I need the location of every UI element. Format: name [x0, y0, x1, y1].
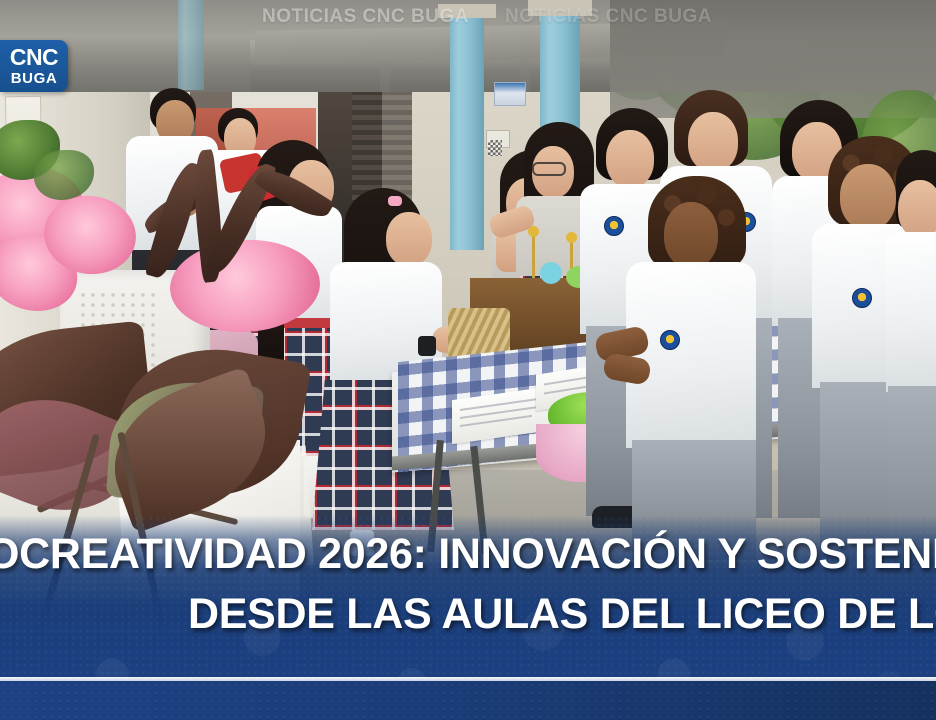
pillar: [178, 0, 204, 90]
watermark-text: NOTICIAS CNC BUGA: [262, 6, 469, 28]
cnc-buga-logo[interactable]: CNC BUGA: [0, 40, 68, 92]
wristwatch: [418, 336, 436, 356]
footer-texture: [0, 681, 936, 720]
wall-sign: [494, 82, 526, 106]
eyeglasses: [532, 162, 566, 176]
footer-bar: [0, 681, 936, 720]
headline-line-1: OCREATIVIDAD 2026: INNOVACIÓN Y SOSTENIB…: [0, 533, 922, 576]
logo-secondary-text: BUGA: [11, 71, 58, 86]
pillar: [450, 10, 484, 250]
logo-primary-text: CNC: [10, 46, 58, 69]
watermark-text: NOTICIAS CNC BUGA: [505, 6, 712, 28]
wall-qr-code: [488, 140, 502, 156]
headline-banner: OCREATIVIDAD 2026: INNOVACIÓN Y SOSTENIB…: [0, 515, 936, 720]
hair-tie: [388, 196, 402, 206]
news-thumbnail: NOTICIAS CNC BUGA NOTICIAS CNC BUGA CNC …: [0, 0, 936, 720]
headline-line-2: DESDE LAS AULAS DEL LICEO DE LOS A: [188, 593, 936, 636]
